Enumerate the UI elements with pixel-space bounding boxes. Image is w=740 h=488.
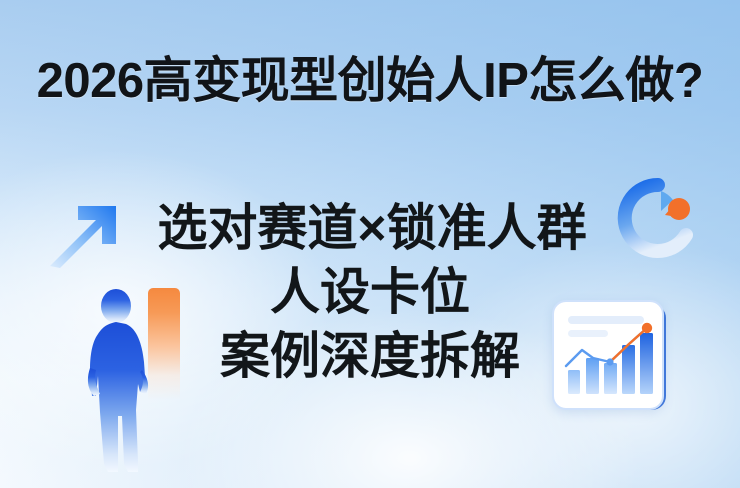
message-line-1: 选对赛道×锁准人群 bbox=[0, 196, 740, 260]
poster-headline: 2026高变现型创始人IP怎么做? bbox=[0, 52, 740, 110]
chart-card-graphic bbox=[552, 300, 660, 406]
poster-canvas: 2026高变现型创始人IP怎么做? bbox=[0, 0, 740, 488]
bar-chart-card-icon bbox=[548, 296, 674, 416]
founder-silhouette-icon bbox=[66, 284, 176, 480]
